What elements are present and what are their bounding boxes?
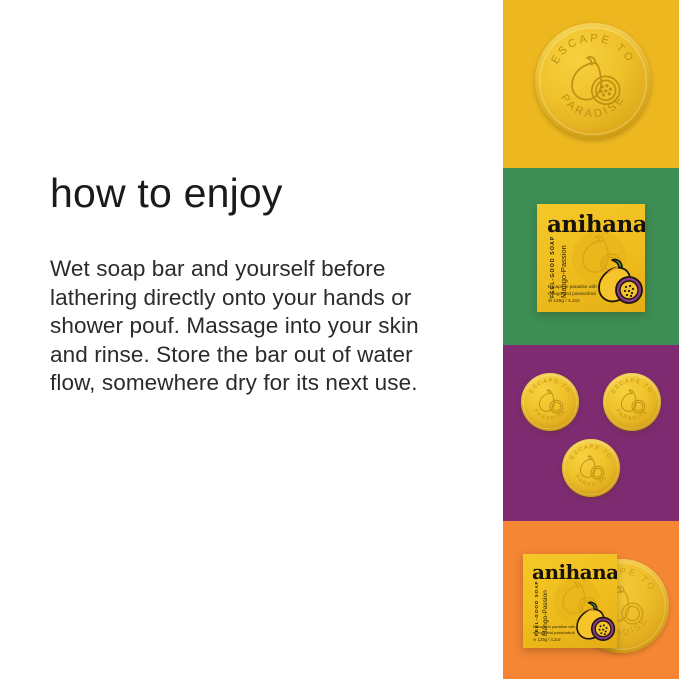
- svg-text:ESCAPE TO: ESCAPE TO: [529, 378, 572, 395]
- soap-emboss-artwork: ESCAPE TO PARADISE: [535, 23, 651, 139]
- box-description-line-1: Escape to paradise with: [533, 624, 575, 630]
- soap-bar: ESCAPE TO PARADISE: [535, 23, 651, 139]
- box-weight-label: ⊖ 125g / 4.2oz: [533, 637, 561, 643]
- product-box: anihana FEEL-GOOD SOAP Mango-Passion Esc…: [537, 204, 645, 312]
- soap-bar: ESCAPE TO PARADISE: [521, 373, 579, 431]
- soap-bar: ESCAPE TO PARADISE: [603, 373, 661, 431]
- how-to-enjoy-section: how to enjoy Wet soap bar and yourself b…: [50, 170, 460, 398]
- box-description-line-1: Escape to paradise with: [548, 284, 597, 291]
- box-description-line-2: mango and passionfruit: [548, 291, 596, 298]
- panel-soap-on-yellow: ESCAPE TO PARADISE: [503, 0, 679, 168]
- brand-logo: anihana: [532, 562, 617, 582]
- soap-emboss-artwork: ESCAPE TO PARADISE: [562, 439, 620, 497]
- soap-emboss-artwork: ESCAPE TO PARADISE: [521, 373, 579, 431]
- panel-three-soaps-on-purple: ESCAPE TO PARADISE: [503, 345, 679, 521]
- product-photo-strip: ESCAPE TO PARADISE: [503, 0, 679, 679]
- brand-logo: anihana: [547, 213, 645, 236]
- product-box: anihana FEEL-GOOD SOAP Mango-Passion Esc…: [523, 554, 617, 648]
- panel-box-and-soap-on-orange: ESCAPE TO PARADISE: [503, 521, 679, 679]
- product-detail-page: how to enjoy Wet soap bar and yourself b…: [0, 0, 679, 679]
- instructions-paragraph: Wet soap bar and yourself before latheri…: [50, 255, 450, 398]
- page-title: how to enjoy: [50, 170, 460, 217]
- panel-box-on-green: anihana FEEL-GOOD SOAP Mango-Passion Esc…: [503, 168, 679, 345]
- box-description-line-2: mango and passionfruit: [533, 630, 575, 636]
- soap-emboss-artwork: ESCAPE TO PARADISE: [603, 373, 661, 431]
- soap-bar: ESCAPE TO PARADISE: [562, 439, 620, 497]
- svg-text:ESCAPE TO: ESCAPE TO: [611, 378, 654, 395]
- box-weight-label: ⊖ 125g / 4.2oz: [548, 299, 580, 306]
- svg-text:ESCAPE TO: ESCAPE TO: [570, 444, 613, 461]
